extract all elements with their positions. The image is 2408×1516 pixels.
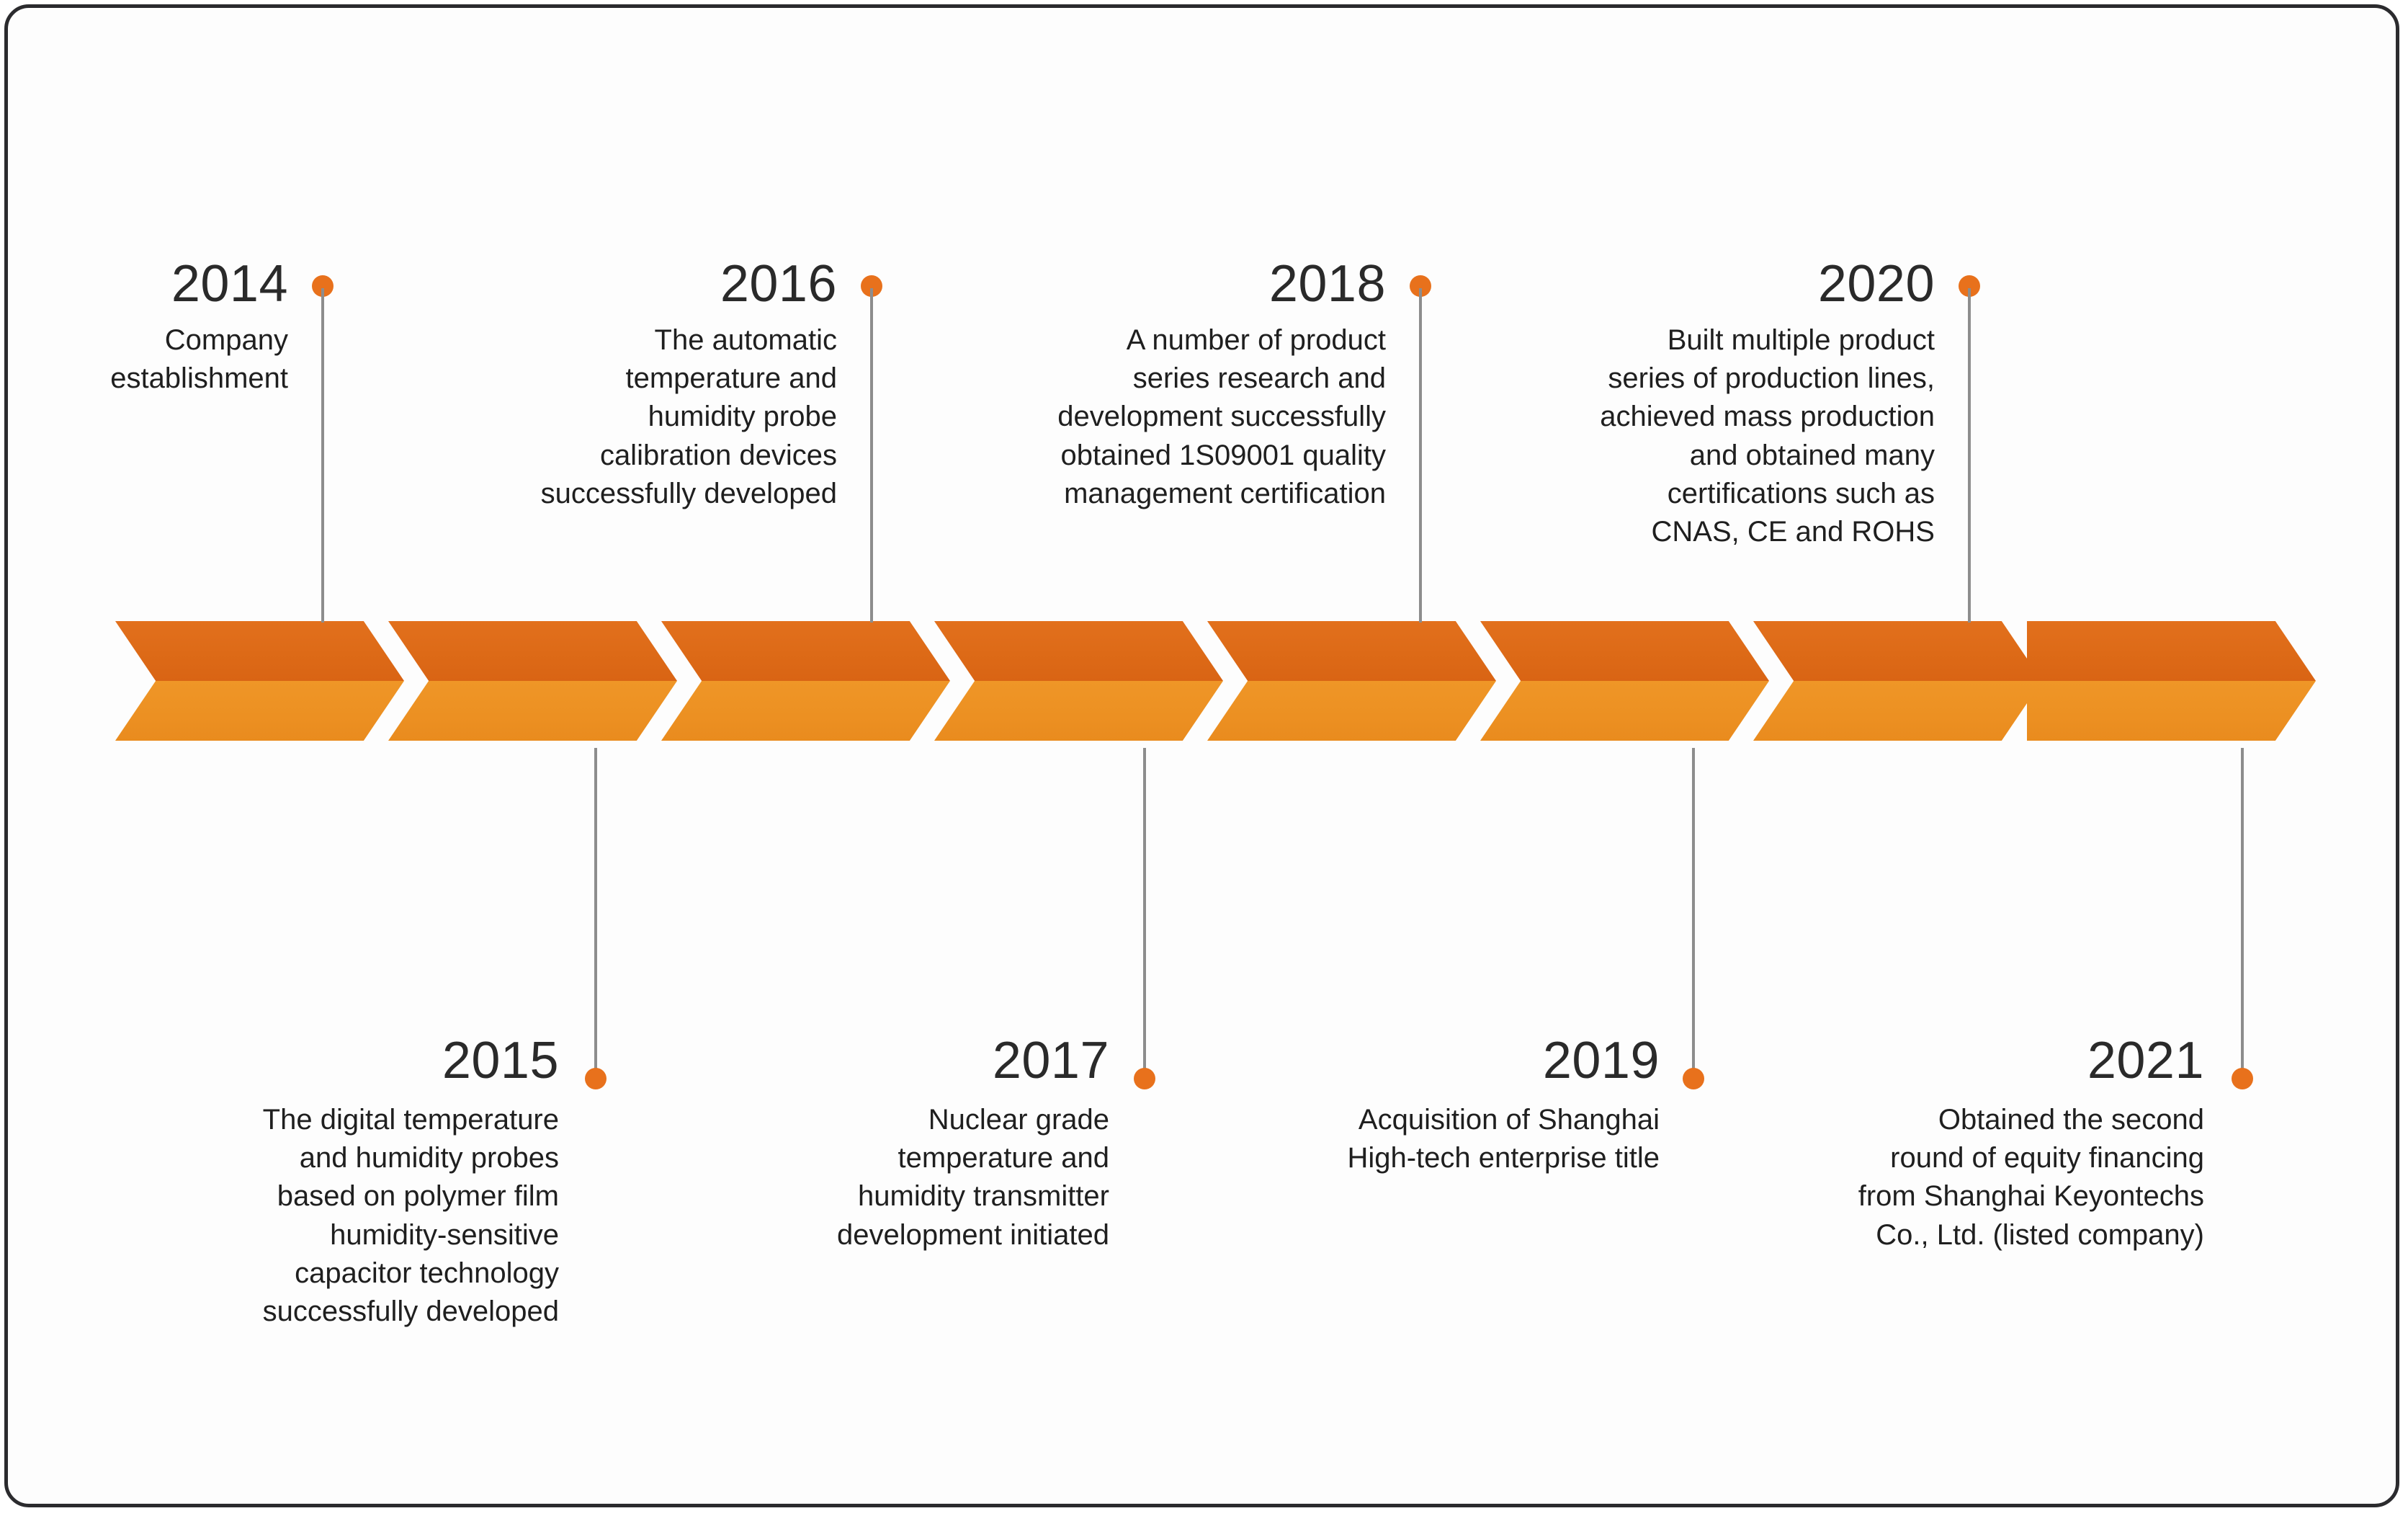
- milestone-description-2021: Obtained the second round of equity fina…: [1714, 1101, 2204, 1254]
- timeline-infographic: 2014 Company establishment 2016 The auto…: [0, 0, 2408, 1516]
- chevron-bottom-half: [1753, 681, 2042, 741]
- milestone-block-2020: 2020 Built multiple product series of pr…: [1541, 258, 1935, 551]
- milestone-block-2019: 2019 Acquisition of Shanghai High-tech e…: [1225, 1035, 1660, 1177]
- milestone-description-2015: The digital temperature and humidity pro…: [115, 1101, 559, 1331]
- milestone-block-2021: 2021 Obtained the second round of equity…: [1714, 1035, 2204, 1254]
- milestone-block-2016: 2016 The automatic temperature and humid…: [504, 258, 837, 513]
- chevron-segment-2: [388, 621, 677, 741]
- milestone-stem-2017: [1143, 748, 1146, 1079]
- milestone-dot-2017[interactable]: [1134, 1068, 1155, 1089]
- chevron-segment-7: [1753, 621, 2042, 741]
- chevron-bottom-half: [1480, 681, 1769, 741]
- milestone-stem-2019: [1692, 748, 1695, 1079]
- milestone-year-2018: 2018: [1008, 258, 1386, 310]
- milestone-description-2018: A number of product series research and …: [1008, 321, 1386, 513]
- milestone-description-2017: Nuclear grade temperature and humidity t…: [699, 1101, 1109, 1254]
- milestone-year-2019: 2019: [1225, 1035, 1660, 1087]
- chevron-top-half: [1480, 621, 1769, 681]
- chevron-bottom-half: [934, 681, 1223, 741]
- chevron-top-half: [1753, 621, 2042, 681]
- milestone-year-2014: 2014: [0, 258, 288, 310]
- milestone-year-2015: 2015: [115, 1035, 559, 1087]
- milestone-stem-2021: [2241, 748, 2244, 1079]
- chevron-segment-4: [934, 621, 1223, 741]
- chevron-top-half: [661, 621, 950, 681]
- milestone-block-2017: 2017 Nuclear grade temperature and humid…: [699, 1035, 1109, 1254]
- milestone-dot-2019[interactable]: [1683, 1068, 1704, 1089]
- chevron-top-half: [115, 621, 404, 681]
- milestone-block-2015: 2015 The digital temperature and humidit…: [115, 1035, 559, 1331]
- chevron-segment-8: [2027, 621, 2316, 741]
- milestone-block-2014: 2014 Company establishment: [0, 258, 288, 398]
- milestone-year-2020: 2020: [1541, 258, 1935, 310]
- chevron-bottom-half: [661, 681, 950, 741]
- milestone-stem-2016: [870, 288, 873, 623]
- milestone-stem-2014: [321, 288, 324, 623]
- milestone-dot-2015[interactable]: [585, 1068, 607, 1089]
- milestone-year-2021: 2021: [1714, 1035, 2204, 1087]
- milestone-block-2018: 2018 A number of product series research…: [1008, 258, 1386, 513]
- chevron-segment-1: [115, 621, 404, 741]
- chevron-top-half: [2027, 621, 2316, 681]
- milestone-year-2016: 2016: [504, 258, 837, 310]
- chevron-bottom-half: [388, 681, 677, 741]
- chevron-bottom-half: [115, 681, 404, 741]
- chevron-segment-6: [1480, 621, 1769, 741]
- milestone-stem-2020: [1968, 288, 1971, 623]
- milestone-year-2017: 2017: [699, 1035, 1109, 1087]
- chevron-segment-3: [661, 621, 950, 741]
- chevron-segment-5: [1207, 621, 1496, 741]
- milestone-stem-2015: [594, 748, 597, 1079]
- milestone-description-2019: Acquisition of Shanghai High-tech enterp…: [1225, 1101, 1660, 1177]
- chevron-top-half: [1207, 621, 1496, 681]
- chevron-bottom-half: [1207, 681, 1496, 741]
- chevron-bottom-half: [2027, 681, 2316, 741]
- arrow-band: [115, 621, 2316, 741]
- milestone-dot-2021[interactable]: [2232, 1068, 2253, 1089]
- milestone-description-2020: Built multiple product series of product…: [1541, 321, 1935, 551]
- milestone-description-2014: Company establishment: [0, 321, 288, 398]
- milestone-description-2016: The automatic temperature and humidity p…: [504, 321, 837, 513]
- chevron-top-half: [934, 621, 1223, 681]
- milestone-stem-2018: [1419, 288, 1422, 623]
- chevron-top-half: [388, 621, 677, 681]
